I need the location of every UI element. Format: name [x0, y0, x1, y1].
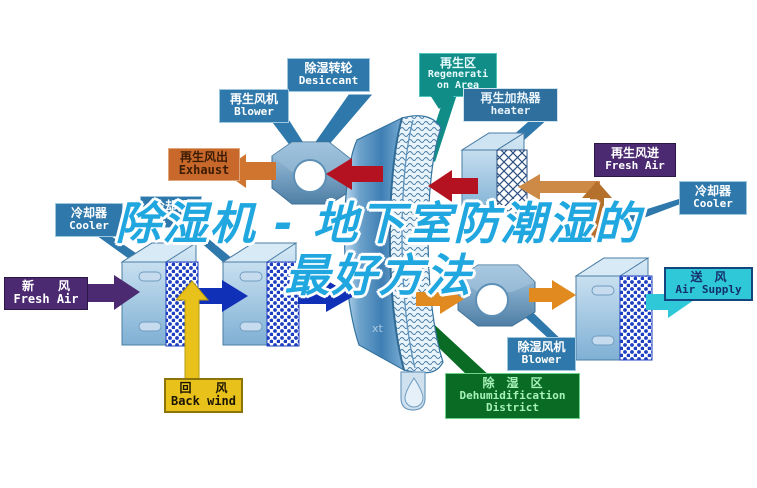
callout-tail: [430, 95, 455, 109]
schematic-illustration: [0, 0, 757, 488]
label-desiccant-rotor-en: Desiccant: [292, 75, 365, 87]
dehumidification-blower-unit: [458, 265, 535, 326]
label-exhaust-en: Exhaust: [173, 164, 235, 177]
label-cooler-right[interactable]: 冷却器 Cooler: [679, 181, 747, 215]
label-dehumidification-district-cn: 除 湿 区: [450, 377, 575, 390]
label-regeneration-blower-en: Blower: [224, 106, 284, 118]
label-regeneration-air-in[interactable]: 再生风进 Fresh Air: [594, 143, 676, 177]
accent-dot: [436, 225, 444, 233]
label-cooler-left[interactable]: 冷却器 Cooler: [55, 203, 123, 237]
label-dehumidification-blower-cn: 除湿风机: [512, 341, 571, 354]
label-air-supply-cn: 送 风: [669, 271, 748, 284]
label-regeneration-heater-cn: 再生加热器: [468, 92, 553, 105]
diagram-canvas: 除湿转轮 Desiccant 再生风机 Blower 再生区 Regenerat…: [0, 0, 757, 488]
label-desiccant-rotor[interactable]: 除湿转轮 Desiccant: [287, 58, 370, 92]
label-fresh-air-in[interactable]: 新 风 Fresh Air: [4, 277, 88, 310]
label-regeneration-air-in-cn: 再生风进: [599, 147, 671, 160]
label-cooler-left-en: Cooler: [60, 220, 118, 232]
label-cooler-mid[interactable]: 冷却器: [140, 196, 202, 228]
label-air-supply[interactable]: 送 风 Air Supply: [664, 267, 753, 301]
label-cooler-mid-cn: 冷却器: [145, 200, 197, 213]
label-exhaust[interactable]: 再生风出 Exhaust: [168, 148, 240, 181]
label-dehumidification-district-en2: District: [450, 402, 575, 414]
label-regeneration-heater[interactable]: 再生加热器 heater: [463, 88, 558, 122]
label-fresh-air-in-cn: 新 风: [9, 280, 83, 293]
desiccant-wheel: [345, 116, 444, 410]
label-dehumidification-blower-en: Blower: [512, 354, 571, 366]
label-cooler-left-cn: 冷却器: [60, 207, 118, 220]
label-regeneration-area-cn: 再生区: [423, 57, 493, 70]
label-regeneration-blower-cn: 再生风机: [224, 93, 284, 106]
label-cooler-right-cn: 冷却器: [684, 185, 742, 198]
label-dehumidification-district[interactable]: 除 湿 区 Dehumidification District: [445, 373, 580, 419]
supply-filter-unit: [576, 258, 652, 360]
label-exhaust-cn: 再生风出: [173, 151, 235, 164]
regeneration-heater-unit: [462, 133, 527, 213]
label-regeneration-air-in-en: Fresh Air: [599, 160, 671, 172]
label-back-wind[interactable]: 回 风 Back wind: [164, 378, 243, 413]
label-air-supply-en: Air Supply: [669, 284, 748, 296]
cooler2-out-arrow: [298, 280, 354, 312]
blower-out-arrow: [529, 280, 576, 310]
label-cooler-right-en: Cooler: [684, 198, 742, 210]
label-back-wind-en: Back wind: [170, 395, 237, 408]
watermark: xt: [372, 322, 383, 335]
label-back-wind-cn: 回 风: [170, 382, 237, 395]
label-regeneration-heater-en: heater: [468, 105, 553, 117]
label-dehumidification-blower[interactable]: 除湿风机 Blower: [507, 337, 576, 371]
label-regeneration-blower[interactable]: 再生风机 Blower: [219, 89, 289, 123]
label-desiccant-rotor-cn: 除湿转轮: [292, 62, 365, 75]
label-fresh-air-in-en: Fresh Air: [9, 293, 83, 306]
